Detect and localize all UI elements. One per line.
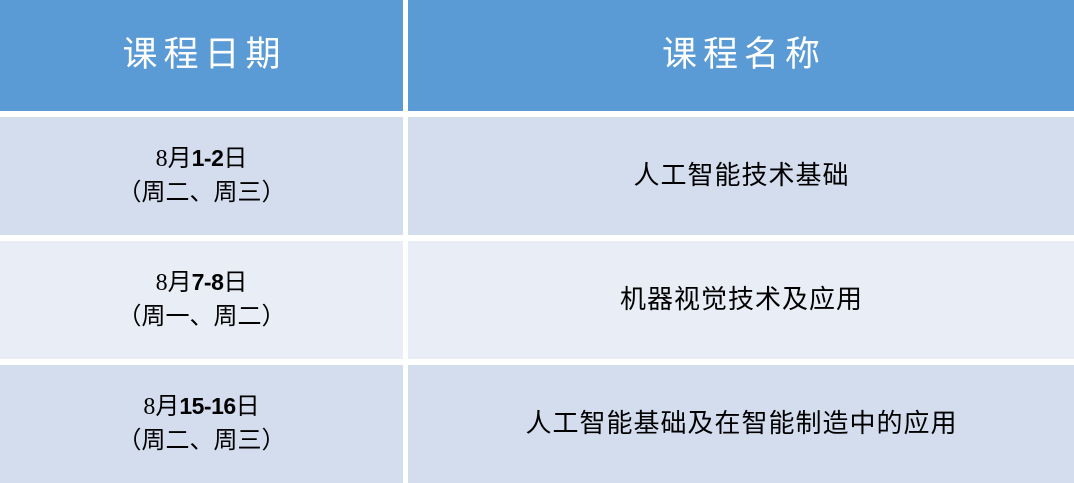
date-day-suffix: 日 — [223, 146, 247, 172]
table-row: 8月1-2日 （周二、周三） 人工智能技术基础 — [0, 117, 1074, 235]
cell-course-name: 人工智能基础及在智能制造中的应用 — [408, 365, 1074, 483]
date-month: 8月 — [156, 270, 192, 296]
date-month: 8月 — [143, 394, 179, 420]
course-date-primary: 8月15-16日 — [0, 390, 403, 424]
course-date-primary: 8月1-2日 — [0, 142, 403, 176]
course-date-weekdays: （周一、周二） — [0, 300, 403, 334]
table-row: 8月7-8日 （周一、周二） 机器视觉技术及应用 — [0, 241, 1074, 359]
cell-course-date: 8月15-16日 （周二、周三） — [0, 365, 403, 483]
course-date-primary: 8月7-8日 — [0, 266, 403, 300]
course-date-weekdays: （周二、周三） — [0, 176, 403, 210]
date-day-suffix: 日 — [223, 270, 247, 296]
cell-course-date: 8月1-2日 （周二、周三） — [0, 117, 403, 235]
cell-course-name: 人工智能技术基础 — [408, 117, 1074, 235]
date-day-suffix: 日 — [236, 394, 260, 420]
course-date-weekdays: （周二、周三） — [0, 424, 403, 458]
date-day-range: 7-8 — [192, 269, 224, 295]
cell-course-date: 8月7-8日 （周一、周二） — [0, 241, 403, 359]
table-row: 8月15-16日 （周二、周三） 人工智能基础及在智能制造中的应用 — [0, 365, 1074, 483]
column-header-course-date: 课程日期 — [0, 0, 403, 111]
table-header-row: 课程日期 课程名称 — [0, 0, 1074, 111]
course-schedule-table: 课程日期 课程名称 8月1-2日 （周二、周三） 人工智能技术基础 — [0, 0, 1074, 483]
date-day-range: 1-2 — [192, 145, 224, 171]
column-header-course-name: 课程名称 — [408, 0, 1074, 111]
cell-course-name: 机器视觉技术及应用 — [408, 241, 1074, 359]
date-month: 8月 — [156, 146, 192, 172]
date-day-range: 15-16 — [179, 393, 235, 419]
